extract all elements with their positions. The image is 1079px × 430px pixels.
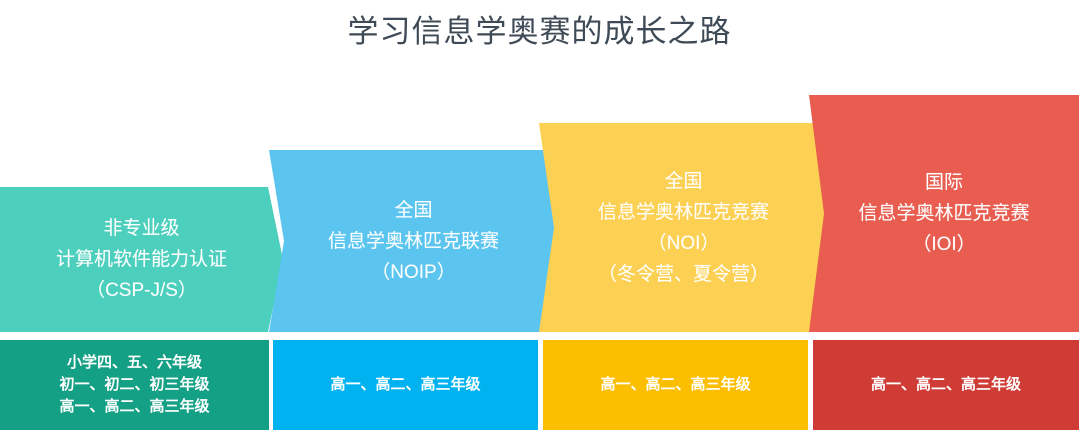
stage-4-title: 国际 信息学奥林匹克竞赛 （IOI） (848, 167, 1039, 260)
stage-3-arrow-noi[interactable]: 全国 信息学奥林匹克竞赛 （NOI） （冬令营、夏令营） (539, 123, 828, 332)
stage-2-grades-label: 高一、高二、高三年级 (324, 374, 486, 396)
stage-4-grades-cell[interactable]: 高一、高二、高三年级 (813, 340, 1079, 430)
stage-2-title: 全国 信息学奥林匹克联赛 （NOIP） (318, 195, 509, 288)
stage-1-grades-cell[interactable]: 小学四、五、六年级 初一、初二、初三年级 高一、高二、高三年级 (0, 340, 269, 430)
growth-path-flow-chart: 非专业级 计算机软件能力认证 （CSP-J/S）小学四、五、六年级 初一、初二、… (0, 0, 1079, 430)
stage-3-title: 全国 信息学奥林匹克竞赛 （NOI） （冬令营、夏令营） (588, 166, 779, 290)
stage-1-grades-label: 小学四、五、六年级 初一、初二、初三年级 高一、高二、高三年级 (53, 352, 215, 418)
stage-2-grades-cell[interactable]: 高一、高二、高三年级 (273, 340, 538, 430)
stage-4-arrow-ioi[interactable]: 国际 信息学奥林匹克竞赛 （IOI） (809, 95, 1079, 332)
stage-3-grades-label: 高一、高二、高三年级 (594, 374, 756, 396)
stage-3-grades-cell[interactable]: 高一、高二、高三年级 (543, 340, 808, 430)
stage-1-arrow-csp-j-s[interactable]: 非专业级 计算机软件能力认证 （CSP-J/S） (0, 187, 283, 332)
stage-4-grades-label: 高一、高二、高三年级 (865, 374, 1027, 396)
stage-2-arrow-noip[interactable]: 全国 信息学奥林匹克联赛 （NOIP） (269, 150, 558, 332)
stage-1-title: 非专业级 计算机软件能力认证 （CSP-J/S） (46, 213, 237, 306)
